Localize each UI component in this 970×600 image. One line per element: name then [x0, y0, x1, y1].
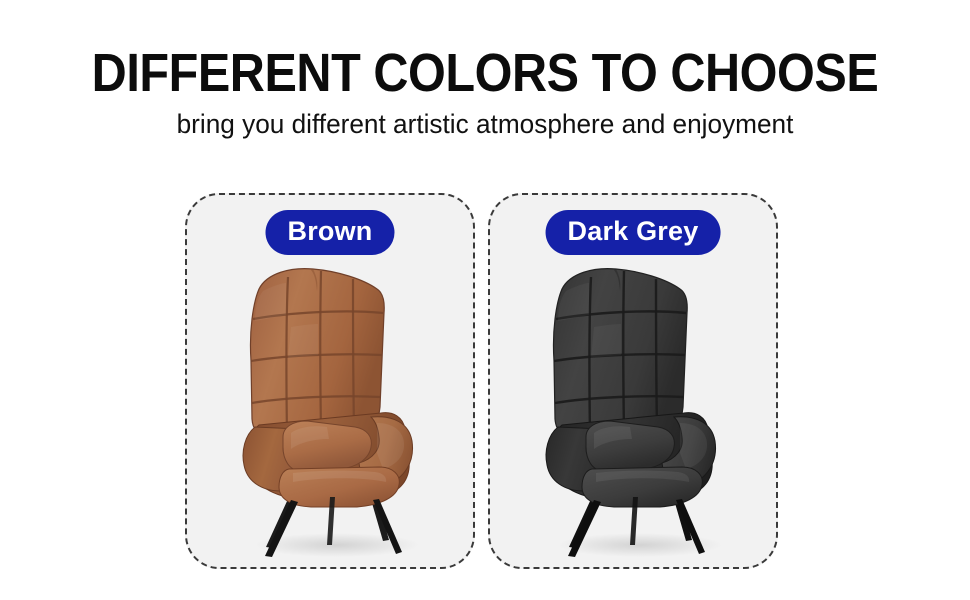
- color-option-card-dark-grey[interactable]: Dark Grey: [488, 193, 778, 569]
- page-title: DIFFERENT COLORS TO CHOOSE: [49, 44, 922, 102]
- product-color-options-banner: DIFFERENT COLORS TO CHOOSE bring you dif…: [0, 0, 970, 600]
- accent-chair-illustration-brown: [187, 257, 477, 567]
- banner-header: DIFFERENT COLORS TO CHOOSE bring you dif…: [0, 44, 970, 140]
- chair-image-brown: [187, 257, 477, 567]
- color-badge-dark-grey: Dark Grey: [546, 210, 721, 255]
- chair-image-dark-grey: [490, 257, 780, 567]
- color-badge-brown: Brown: [266, 210, 395, 255]
- accent-chair-illustration-dark-grey: [490, 257, 780, 567]
- page-subtitle: bring you different artistic atmosphere …: [15, 108, 956, 140]
- color-option-card-brown[interactable]: Brown: [185, 193, 475, 569]
